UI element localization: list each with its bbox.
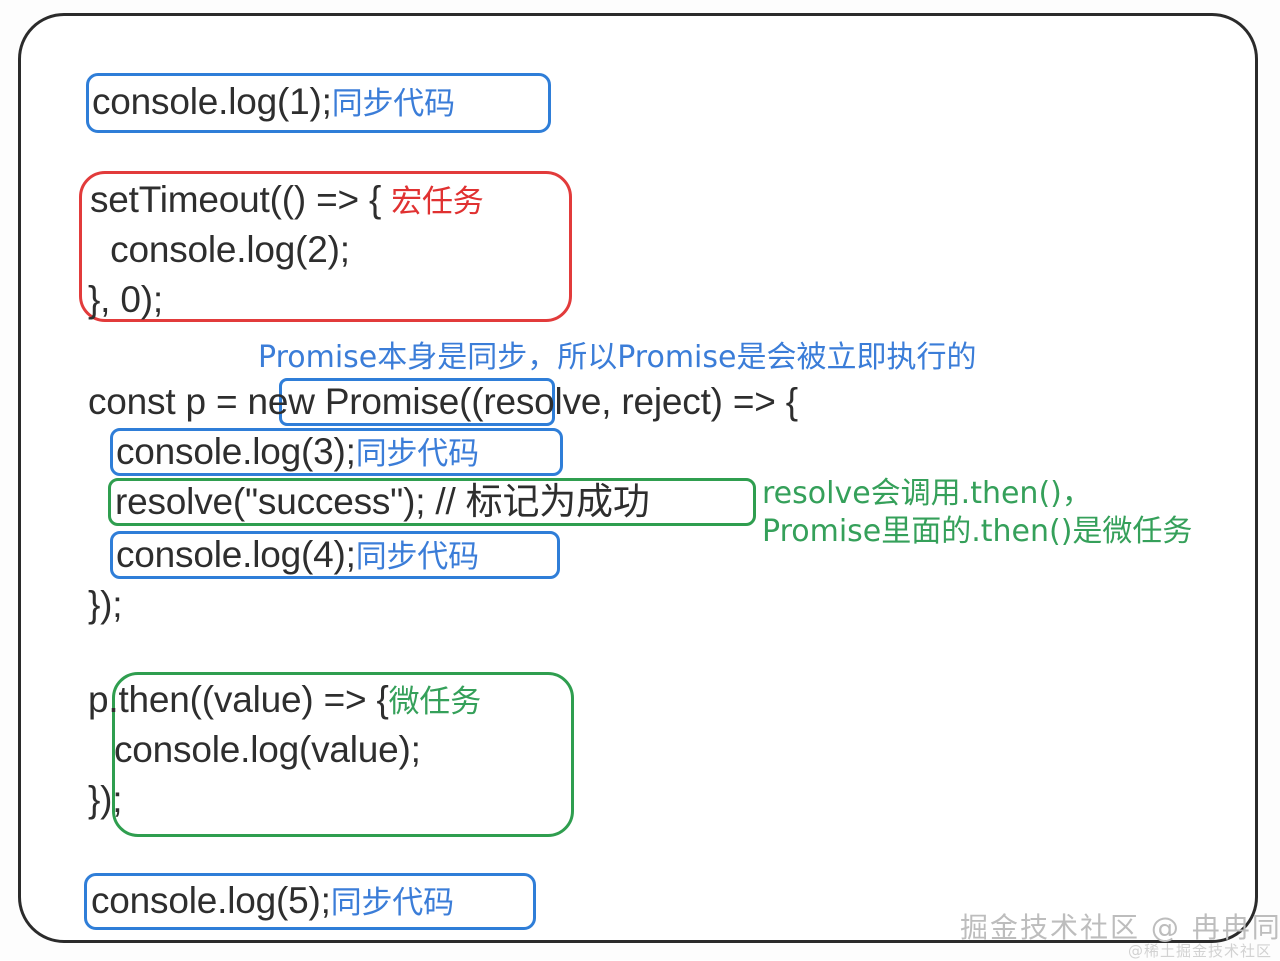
code-line-log1: console.log(1);同步代码 bbox=[92, 80, 455, 126]
annotation-microtask: 微任务 bbox=[389, 684, 481, 720]
code-text-log4: console.log(4); bbox=[116, 534, 356, 575]
code-text-new-promise: new Promise( bbox=[247, 381, 471, 422]
code-line-settimeout: setTimeout(() => {宏任务 bbox=[90, 178, 484, 224]
annotation-sync-3: 同步代码 bbox=[356, 436, 479, 472]
code-line-resolve: resolve("success"); // 标记为成功 bbox=[115, 480, 650, 524]
code-text-then-close: }); bbox=[88, 779, 122, 820]
code-text-log2: console.log(2); bbox=[90, 229, 350, 270]
note-resolve-then-2: Promise里面的.then()是微任务 bbox=[762, 513, 1192, 551]
code-text-log5: console.log(5); bbox=[91, 880, 331, 921]
annotation-macrotask: 宏任务 bbox=[381, 184, 483, 220]
code-text-log3: console.log(3); bbox=[116, 431, 356, 472]
code-line-log-value: console.log(value); bbox=[114, 728, 421, 772]
code-text-pthen: p.then((value) => { bbox=[88, 679, 389, 720]
code-line-log3: console.log(3);同步代码 bbox=[116, 430, 479, 476]
code-text-promise-close: }); bbox=[88, 584, 122, 625]
code-line-settimeout-close: }, 0); bbox=[88, 278, 163, 322]
annotation-sync-4: 同步代码 bbox=[356, 539, 479, 575]
code-line-pthen: p.then((value) => {微任务 bbox=[88, 678, 481, 724]
code-text-resolve: resolve("success"); // 标记为成功 bbox=[115, 481, 650, 522]
code-line-log4: console.log(4);同步代码 bbox=[116, 533, 479, 579]
code-text-log1: console.log(1); bbox=[92, 81, 332, 122]
code-line-log2: console.log(2); bbox=[90, 228, 350, 272]
screenshot-canvas: console.log(1);同步代码 setTimeout(() => {宏任… bbox=[0, 0, 1280, 960]
code-content-layer: console.log(1);同步代码 setTimeout(() => {宏任… bbox=[0, 0, 1280, 960]
code-text-settimeout: setTimeout(() => { bbox=[90, 179, 381, 220]
code-text-log-value: console.log(value); bbox=[114, 729, 421, 770]
note-resolve-then-1: resolve会调用.then()， bbox=[762, 475, 1092, 513]
code-line-promise-close: }); bbox=[88, 583, 122, 627]
watermark-small: @稀土掘金技术社区 bbox=[1128, 940, 1272, 961]
code-line-const-promise: const p = new Promise((resolve, reject) … bbox=[88, 380, 798, 424]
code-line-log5: console.log(5);同步代码 bbox=[91, 879, 454, 925]
annotation-sync-1: 同步代码 bbox=[332, 86, 455, 122]
note-promise-sync: Promise本身是同步，所以Promise是会被立即执行的 bbox=[258, 339, 976, 377]
code-text-const-prefix: const p = bbox=[88, 381, 247, 422]
code-text-settimeout-close: }, 0); bbox=[88, 279, 163, 320]
annotation-sync-5: 同步代码 bbox=[331, 885, 454, 921]
code-line-then-close: }); bbox=[88, 778, 122, 822]
code-text-promise-args: (resolve, reject) => { bbox=[471, 381, 798, 422]
